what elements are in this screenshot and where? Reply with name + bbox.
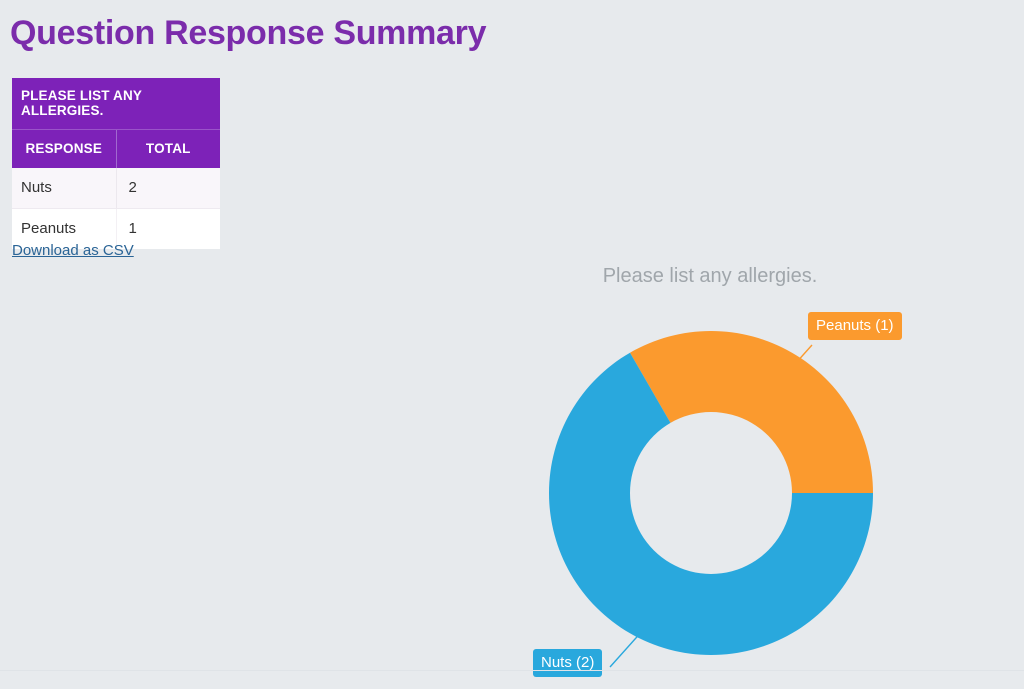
column-header-response: RESPONSE bbox=[12, 130, 116, 169]
table-row: Nuts 2 bbox=[12, 168, 220, 209]
donut-chart: Please list any allergies. Peanuts (1) N… bbox=[430, 255, 1005, 680]
table-column-header-row: RESPONSE TOTAL bbox=[12, 130, 220, 169]
question-summary-table: PLEASE LIST ANY ALLERGIES. RESPONSE TOTA… bbox=[12, 78, 220, 249]
cell-response: Nuts bbox=[12, 168, 116, 209]
bottom-divider bbox=[0, 670, 1024, 671]
donut-chart-svg bbox=[430, 255, 1005, 680]
donut-slices bbox=[549, 331, 873, 655]
data-label-peanuts: Peanuts (1) bbox=[808, 312, 902, 340]
cell-total: 2 bbox=[116, 168, 220, 209]
table-question-header-row: PLEASE LIST ANY ALLERGIES. bbox=[12, 78, 220, 130]
data-label-nuts: Nuts (2) bbox=[533, 649, 602, 677]
donut-slice-peanuts[interactable] bbox=[630, 331, 873, 493]
page-title: Question Response Summary bbox=[10, 8, 486, 58]
table-question-header: PLEASE LIST ANY ALLERGIES. bbox=[12, 78, 220, 130]
column-header-total: TOTAL bbox=[116, 130, 220, 169]
download-csv-link[interactable]: Download as CSV bbox=[12, 241, 134, 261]
